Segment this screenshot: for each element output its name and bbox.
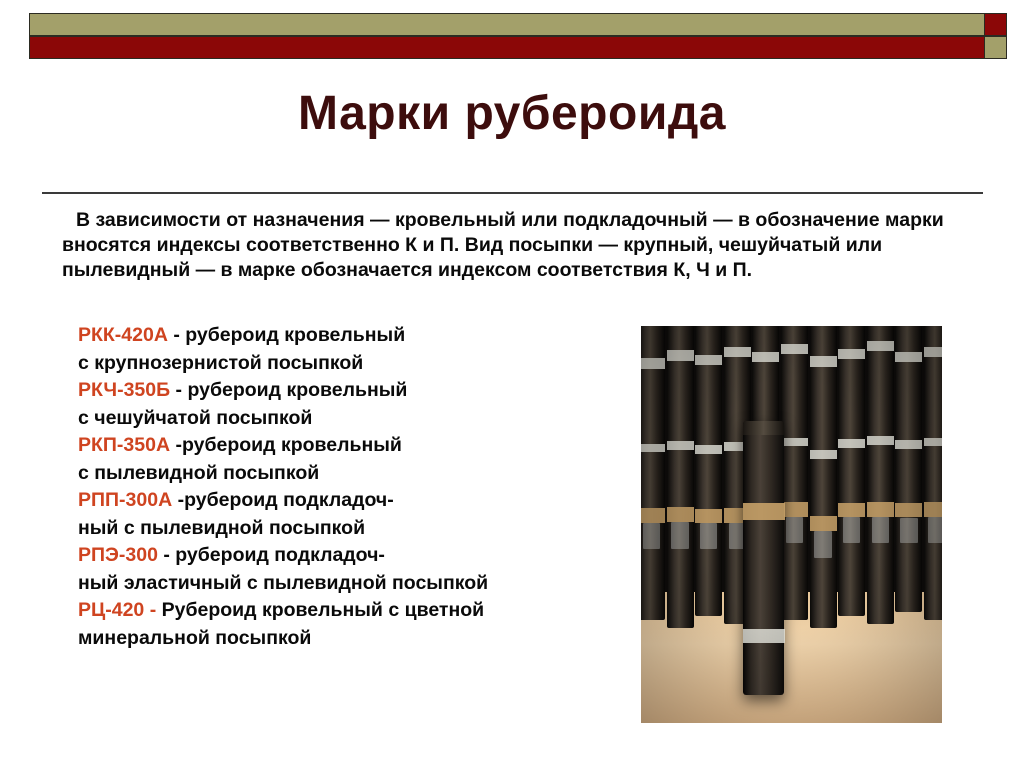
mark-code: РЦ-420 - [78,599,156,621]
bottom-long-bar [29,36,985,59]
list-item: РКК-420А - рубероид кровельный [78,322,638,350]
list-item: РКЧ-350Б - рубероид кровельный [78,377,638,405]
roll [838,326,865,616]
bottom-cap-bar [985,36,1007,59]
mark-continuation: минеральной посыпкой [78,625,638,653]
header-decoration-bars [29,13,1007,59]
roll [924,326,942,620]
mark-description: - рубероид подкладоч- [158,544,385,566]
intro-paragraph: В зависимости от назначения — кровельный… [62,208,992,283]
mark-code: РКЧ-350Б [78,379,170,401]
header-bar-row-bottom [29,36,1007,59]
list-item: РПЭ-300 - рубероид подкладоч- [78,542,638,570]
marks-list: РКК-420А - рубероид кровельный с крупноз… [78,322,638,652]
mark-description: -рубероид кровельный [170,434,402,456]
mark-description: -рубероид подкладоч- [172,489,394,511]
roll [781,326,808,620]
roll [641,326,665,620]
mark-code: РКП-350А [78,434,170,456]
mark-continuation: ный эластичный с пылевидной посыпкой [78,570,638,598]
mark-code: РПЭ-300 [78,544,158,566]
title-divider [42,192,983,194]
roll-top-cap [743,421,784,435]
list-item: РЦ-420 - Рубероид кровельный с цветной [78,597,638,625]
roll [810,326,837,628]
mark-description: Рубероид кровельный с цветной [156,599,484,621]
mark-code: РПП-300А [78,489,172,511]
top-long-bar [29,13,985,36]
list-item: РКП-350А -рубероид кровельный [78,432,638,460]
roll [695,326,722,616]
header-bar-row-top [29,13,1007,36]
mark-continuation: ный с пылевидной посыпкой [78,515,638,543]
top-cap-bar [985,13,1007,36]
featured-roll [743,421,784,695]
page-title: Марки рубероида [0,88,1024,141]
mark-description: - рубероид кровельный [168,324,405,346]
mark-description: - рубероид кровельный [170,379,407,401]
mark-continuation: с крупнозернистой посыпкой [78,350,638,378]
mark-continuation: с чешуйчатой посыпкой [78,405,638,433]
roll [667,326,694,628]
list-item: РПП-300А -рубероид подкладоч- [78,487,638,515]
mark-code: РКК-420А [78,324,168,346]
roll [867,326,894,624]
product-photo [641,326,942,723]
roll [895,326,922,612]
mark-continuation: с пылевидной посыпкой [78,460,638,488]
